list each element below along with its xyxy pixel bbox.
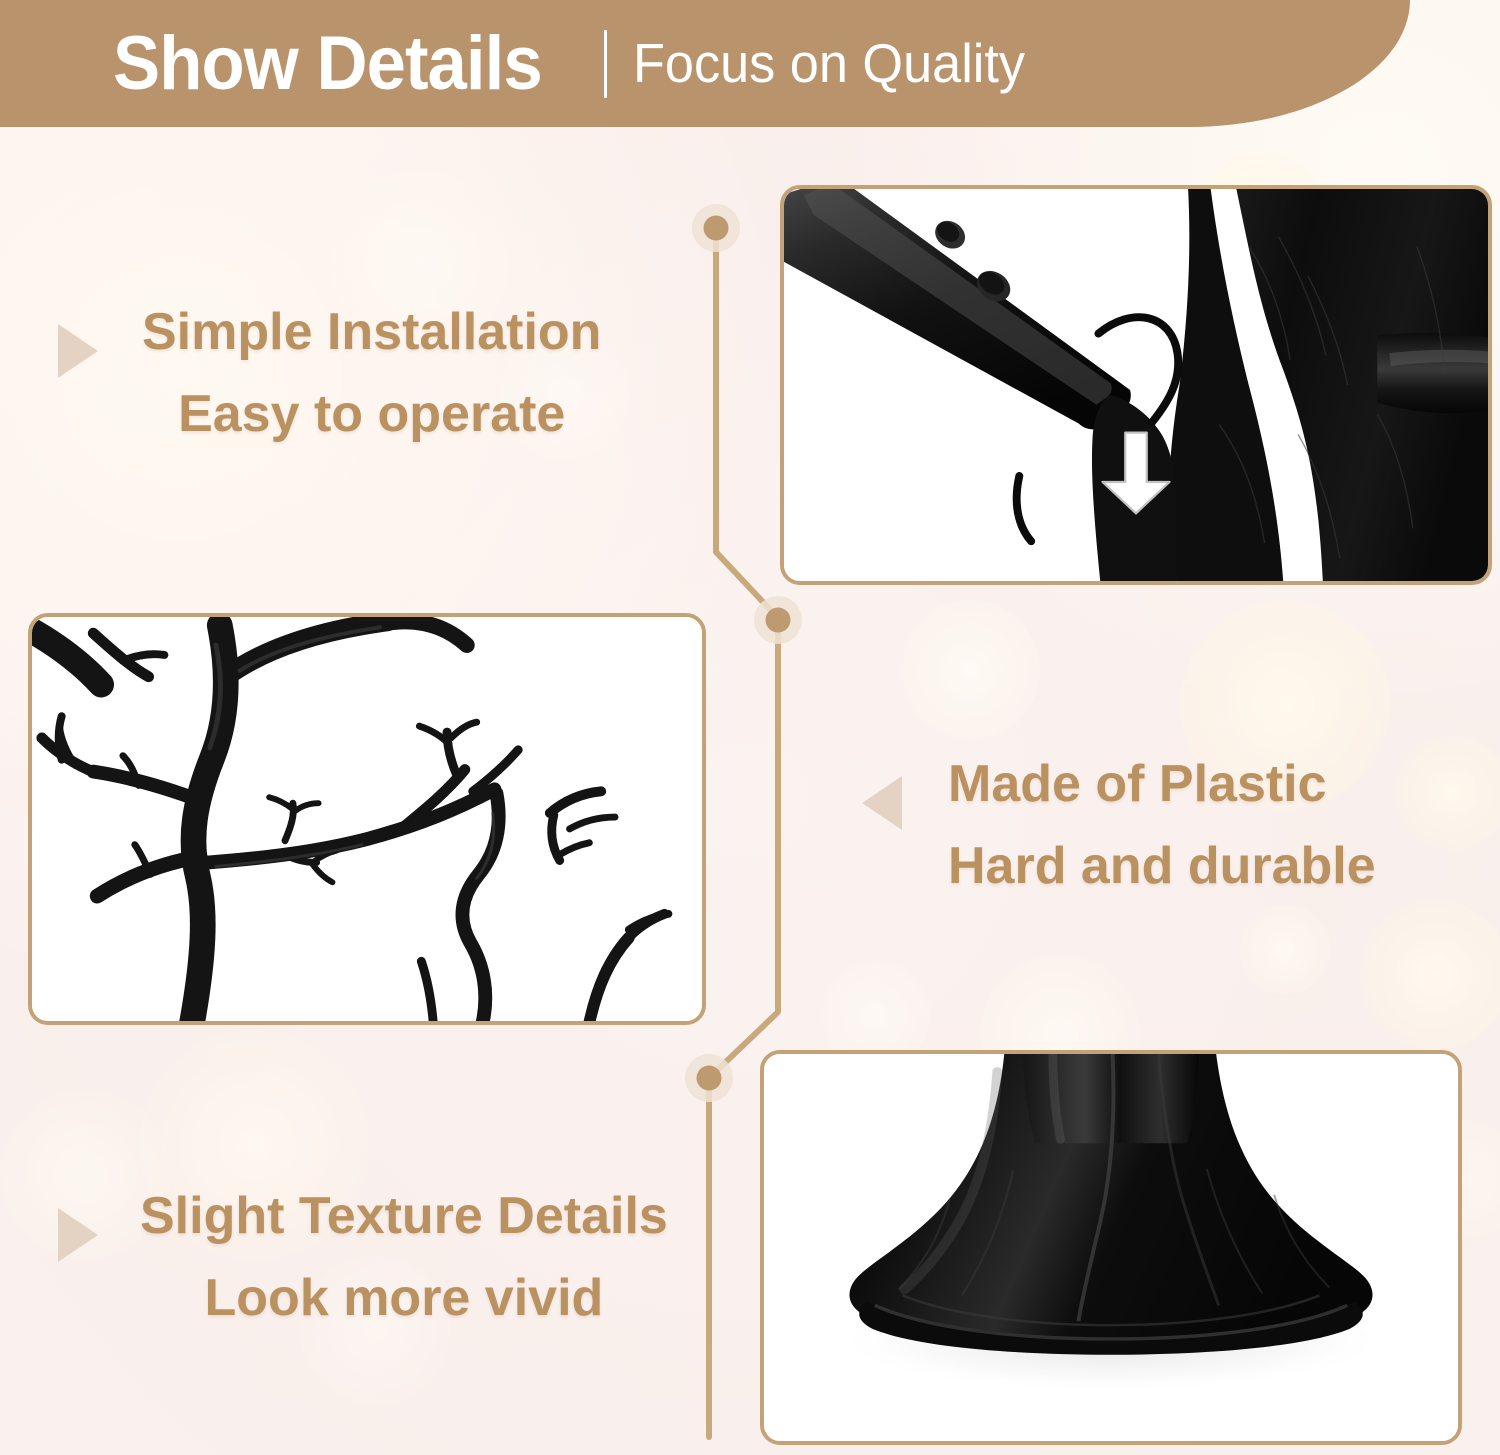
- image-card-assembly-joint: [780, 185, 1492, 585]
- header-banner: Show Details Focus on Quality: [0, 0, 1410, 127]
- feature-subtitle: Easy to operate: [178, 388, 565, 440]
- feature-title: Simple Installation: [142, 306, 601, 358]
- triangle-left-icon: [862, 776, 902, 830]
- feature-block-made-of-plastic: Made of Plastic Hard and durable: [862, 758, 1376, 892]
- connector-dot-bottom: [685, 1054, 733, 1102]
- feature-subtitle: Hard and durable: [948, 840, 1376, 892]
- page-title: Show Details: [113, 26, 542, 102]
- branch-texture-photo: [32, 617, 702, 1021]
- connector-dot-middle: [754, 596, 802, 644]
- image-card-branch-texture: [28, 613, 706, 1025]
- assembly-joint-photo: [784, 189, 1488, 581]
- page-subtitle: Focus on Quality: [633, 36, 1025, 91]
- triangle-right-icon: [58, 324, 98, 378]
- feature-block-slight-texture-details: Slight Texture Details Look more vivid: [58, 1190, 668, 1324]
- triangle-right-icon: [58, 1208, 98, 1262]
- base-photo: [764, 1054, 1458, 1441]
- feature-title: Made of Plastic: [948, 758, 1327, 810]
- image-card-base: [760, 1050, 1462, 1445]
- feature-block-simple-installation: Simple Installation Easy to operate: [58, 306, 601, 440]
- header-divider: [604, 30, 607, 98]
- connector-dot-top: [692, 204, 740, 252]
- infographic-page: Show Details Focus on Quality: [0, 0, 1500, 1455]
- feature-title: Slight Texture Details: [140, 1190, 668, 1242]
- feature-subtitle: Look more vivid: [205, 1272, 604, 1324]
